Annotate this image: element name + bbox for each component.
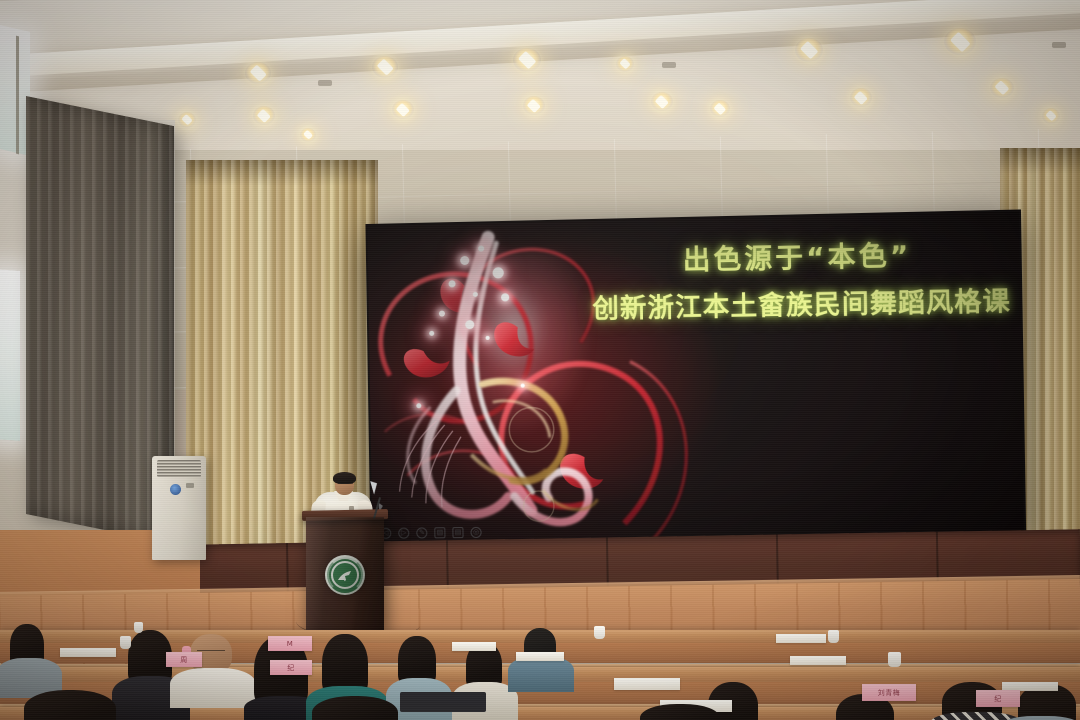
highlight-icon[interactable]: ▧ <box>434 527 445 538</box>
name-card-text: 周 <box>180 655 188 665</box>
audience-person-shoulders <box>170 668 256 708</box>
paper-cup <box>888 652 901 667</box>
name-card: 纪 <box>270 660 312 675</box>
sparkle <box>486 336 490 340</box>
name-card-text: 纪 <box>994 694 1002 704</box>
paper-cup <box>120 636 131 649</box>
name-card-text: 刘青梅 <box>878 688 901 698</box>
sparkle <box>478 246 484 252</box>
ceiling-downlight <box>616 56 634 72</box>
ceiling-smoke-detector <box>1052 42 1066 48</box>
tablet-device <box>400 692 486 712</box>
powerpoint-control-bar[interactable]: ◁ ▷ ✎ ▧ ▤ ◎ <box>380 527 482 539</box>
window-mullion <box>16 36 19 155</box>
slide-title-line2: 创新浙江本土畲族民间舞蹈风格课 <box>592 289 1006 323</box>
ceiling-smoke-detector <box>662 62 676 68</box>
sparkle <box>429 331 434 336</box>
ceiling-downlight <box>178 112 196 128</box>
glasses-icon <box>338 483 353 487</box>
ceiling-downlight <box>513 48 541 72</box>
curtain-shadow <box>1000 148 1080 174</box>
name-card-text: M <box>287 640 294 648</box>
sparkle <box>439 311 445 317</box>
ceiling-downlight <box>651 92 673 111</box>
ceiling-smoke-detector <box>318 80 332 86</box>
curtain-shadow <box>186 160 378 186</box>
ceiling-downlight <box>300 128 316 142</box>
sparkle <box>416 403 421 408</box>
ac-vent-grill <box>157 460 201 477</box>
handout-paper <box>516 652 564 661</box>
window-lower <box>0 269 20 441</box>
audience-person-foreground <box>312 696 398 720</box>
menu-icon[interactable]: ▤ <box>452 527 463 538</box>
pen-icon[interactable]: ✎ <box>416 527 427 538</box>
sparkle <box>521 384 525 388</box>
paper-cup <box>594 626 605 639</box>
next-slide-icon[interactable]: ▷ <box>398 528 409 539</box>
led-presentation-screen[interactable]: 出色源于“本色” 创新浙江本土畲族民间舞蹈风格课 ◁ ▷ ✎ ▧ ▤ ◎ <box>365 209 1026 551</box>
ceiling-downlight <box>523 96 545 115</box>
paper-cup <box>828 630 839 643</box>
name-card: 纪 <box>976 690 1020 707</box>
handout-paper <box>452 642 496 651</box>
handout-paper <box>614 678 680 690</box>
name-card: M <box>268 636 312 651</box>
audience-seating-area: M 周 纪 刘青梅 纪 <box>0 612 1080 720</box>
name-card: 周 <box>166 652 202 667</box>
ceiling-downlight <box>253 106 275 125</box>
ceiling-downlight <box>710 100 730 117</box>
ceiling-downlight <box>1042 108 1060 124</box>
slide-title-block: 出色源于“本色” 创新浙江本土畲族民间舞蹈风格课 <box>592 241 1006 323</box>
ac-brand-badge-icon <box>170 484 181 495</box>
ac-brand-text <box>186 483 194 488</box>
ceiling-downlight <box>944 28 976 55</box>
handout-paper <box>60 648 116 657</box>
ceiling-downlight <box>795 38 823 62</box>
lecture-hall-photo: 出色源于“本色” 创新浙江本土畲族民间舞蹈风格课 ◁ ▷ ✎ ▧ ▤ ◎ <box>0 0 1080 720</box>
sparkle <box>473 292 478 297</box>
ceiling-downlight <box>850 88 872 107</box>
options-icon[interactable]: ◎ <box>470 527 481 538</box>
handout-paper <box>776 634 826 643</box>
name-card: 刘青梅 <box>862 684 916 701</box>
ceiling-downlight <box>990 78 1014 98</box>
audience-person-shoulders <box>508 656 574 692</box>
handout-paper <box>790 656 846 665</box>
name-card-text: 纪 <box>287 663 295 673</box>
ceiling-downlight <box>372 56 398 78</box>
air-conditioner-unit <box>152 456 206 560</box>
ceiling-downlight <box>392 100 414 119</box>
paper-cup <box>134 622 143 633</box>
audience-person-foreground <box>24 690 116 720</box>
ceiling-downlight <box>245 62 271 84</box>
